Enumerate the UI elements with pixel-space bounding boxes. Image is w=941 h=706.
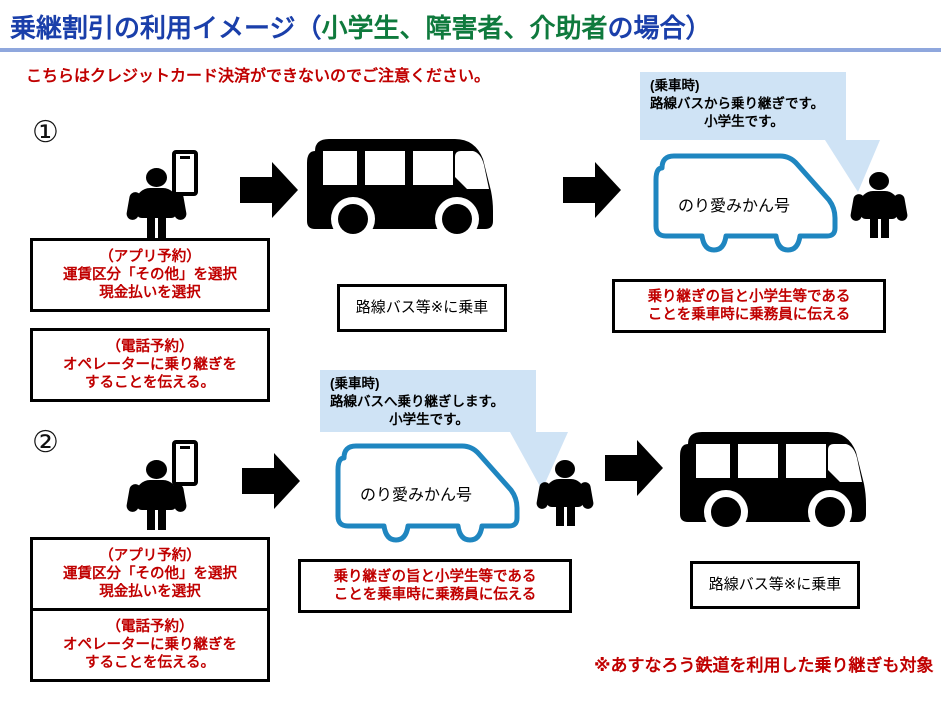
phone-reservation-box-row1: （電話予約） オペレーターに乗り継ぎを することを伝える。	[30, 328, 270, 402]
city-bus-icon-row2	[678, 426, 868, 536]
callout-row1-line2: 路線バスから乗り継ぎです。	[650, 95, 838, 113]
callout-row1-line3: 小学生です。	[650, 113, 838, 131]
asunarou-railway-note: ※あすなろう鉄道を利用した乗り継ぎも対象	[594, 651, 934, 676]
phone-reservation-row2-line1: （電話予約）	[63, 618, 237, 636]
city-bus-icon-row1	[305, 133, 495, 243]
app-reservation-row1-line3: 現金払いを選択	[63, 284, 237, 302]
board-route-bus-row1-text: 路線バス等※に乗車	[352, 299, 493, 318]
callout-row2-line2: 路線バスへ乗り継ぎします。	[330, 393, 528, 411]
board-route-bus-box-row2: 路線バス等※に乗車	[690, 561, 860, 609]
inform-crew-row1-line1: 乗り継ぎの旨と小学生等である	[648, 288, 851, 306]
app-reservation-box-row2: （アプリ予約） 運賃区分「その他」を選択 現金払いを選択	[30, 537, 270, 611]
slide-canvas: 乗継割引の利用イメージ（小学生、障害者、介助者の場合） こちらはクレジットカード…	[0, 0, 941, 706]
phone-reservation-row1-line1: （電話予約）	[63, 338, 237, 356]
page-title: 乗継割引の利用イメージ（小学生、障害者、介助者の場合）	[10, 8, 712, 45]
phone-reservation-row1-line2: オペレーターに乗り継ぎを	[63, 356, 237, 374]
callout-bubble-row2: (乗車時) 路線バスへ乗り継ぎします。 小学生です。	[320, 370, 536, 432]
app-reservation-row2-line3: 現金払いを選択	[63, 583, 237, 601]
inform-crew-row2-line2: ことを乗車時に乗務員に伝える	[334, 586, 537, 604]
step-number-2: ②	[32, 428, 59, 458]
inform-crew-row2-line1: 乗り継ぎの旨と小学生等である	[334, 568, 537, 586]
callout-row1-line1: (乗車時)	[650, 77, 838, 95]
board-route-bus-box-row1: 路線バス等※に乗車	[337, 284, 507, 332]
phone-reservation-box-row2: （電話予約） オペレーターに乗り継ぎを することを伝える。	[30, 608, 270, 682]
van-label-row1: のり愛みかん号	[678, 192, 790, 216]
app-reservation-row2-line1: （アプリ予約）	[63, 547, 237, 565]
callout-row2-line3: 小学生です。	[330, 411, 528, 429]
callout-row2-line1: (乗車時)	[330, 375, 528, 393]
app-reservation-row1-line1: （アプリ予約）	[63, 248, 237, 266]
van-label-row2: のり愛みかん号	[360, 481, 472, 505]
phone-reservation-row2-line3: することを伝える。	[63, 654, 237, 672]
step-number-1: ①	[32, 118, 59, 148]
person-icon-row1-right	[852, 172, 904, 234]
smartphone-icon-row2	[172, 440, 198, 486]
inform-crew-box-row1: 乗り継ぎの旨と小学生等である ことを乗車時に乗務員に伝える	[612, 279, 886, 333]
app-reservation-row1-line2: 運賃区分「その他」を選択	[63, 266, 237, 284]
person-icon-row2-right	[538, 460, 590, 522]
inform-crew-row1-line2: ことを乗車時に乗務員に伝える	[648, 306, 851, 324]
credit-card-notice: こちらはクレジットカード決済ができないのでご注意ください。	[26, 62, 490, 86]
page-title-blue-prefix: 乗継割引の利用イメージ（	[10, 13, 321, 43]
phone-reservation-row2-line2: オペレーターに乗り継ぎを	[63, 636, 237, 654]
inform-crew-box-row2: 乗り継ぎの旨と小学生等である ことを乗車時に乗務員に伝える	[298, 559, 572, 613]
page-title-blue-suffix: の場合）	[608, 13, 712, 43]
app-reservation-row2-line2: 運賃区分「その他」を選択	[63, 565, 237, 583]
smartphone-icon-row1	[172, 150, 198, 196]
board-route-bus-row2-text: 路線バス等※に乗車	[705, 576, 846, 595]
phone-reservation-row1-line3: することを伝える。	[63, 374, 237, 392]
callout-bubble-row1: (乗車時) 路線バスから乗り継ぎです。 小学生です。	[640, 72, 846, 140]
title-divider	[0, 48, 941, 52]
app-reservation-box-row1: （アプリ予約） 運賃区分「その他」を選択 現金払いを選択	[30, 238, 270, 312]
page-title-green-segment: 小学生、障害者、介助者	[321, 13, 607, 43]
